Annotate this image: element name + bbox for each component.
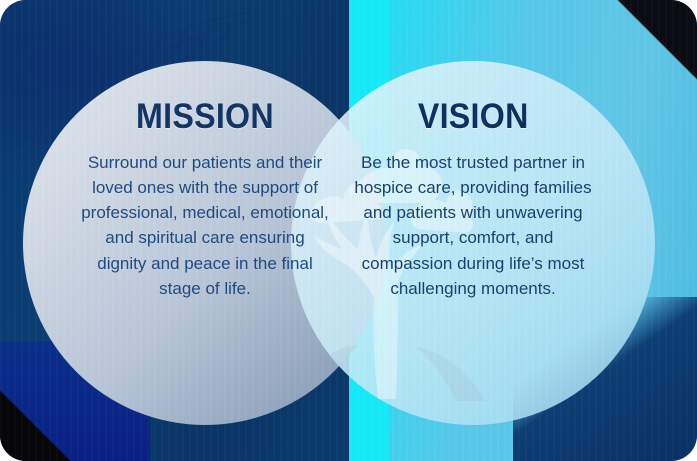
vision-body-text: Be the most trusted partner in hospice c… (347, 150, 599, 301)
vision-panel: VISION Be the most trusted partner in ho… (291, 61, 655, 425)
venn-diagram-graphic: MISSION Surround our patients and their … (0, 0, 697, 461)
vision-title: VISION (418, 99, 529, 134)
mission-title: MISSION (136, 99, 274, 134)
